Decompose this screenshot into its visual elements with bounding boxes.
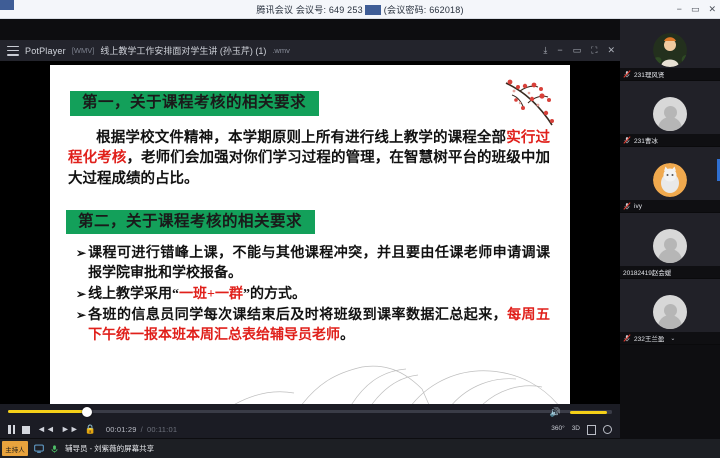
slide-paragraph-1: 根据学校文件精神，本学期原则上所有进行线上教学的课程全部实行过程化考核，老师们会… bbox=[68, 128, 550, 190]
participant-tile[interactable]: 231曹冰 bbox=[620, 81, 720, 147]
avatar bbox=[653, 163, 687, 197]
list-item: ➢ 课程可进行错峰上课，不能与其他课程冲突，并且要由任课老师申请调课报学院审批和… bbox=[76, 244, 550, 284]
bullet-arrow-icon: ➢ bbox=[76, 244, 86, 262]
plum-blossom-icon bbox=[498, 73, 562, 129]
screen-share-status-label: 辅导员 - 刘紫薇的屏幕共享 bbox=[65, 443, 154, 454]
microphone-muted-icon bbox=[623, 334, 631, 342]
microphone-muted-icon bbox=[623, 136, 631, 144]
meeting-maximize-button[interactable]: ▭ bbox=[691, 5, 700, 14]
meeting-window-controls[interactable]: − ▭ ✕ bbox=[677, 0, 716, 19]
bullet-highlight: 一班+一群 bbox=[179, 287, 243, 302]
participant-name-row: 232王兰盈 ⌄ bbox=[620, 332, 720, 344]
bullet-text-part1: 课程可进行错峰上课，不能与其他课程冲突，并且要由任课老师申请调课报学院审批和学校… bbox=[88, 246, 550, 281]
seek-bar[interactable] bbox=[0, 404, 620, 418]
gear-icon[interactable] bbox=[603, 425, 612, 434]
slide-heading-1: 第一，关于课程考核的相关要求 bbox=[70, 91, 319, 116]
previous-button[interactable]: ◄◄ bbox=[37, 425, 55, 434]
bullet-arrow-icon: ➢ bbox=[76, 285, 86, 303]
playlist-icon[interactable] bbox=[587, 425, 596, 435]
meeting-close-button[interactable]: ✕ bbox=[708, 5, 716, 14]
seek-handle[interactable] bbox=[82, 407, 92, 417]
volume-fill bbox=[570, 411, 607, 414]
potplayer-window-controls[interactable]: ⤓ − ▭ ⛶ ✕ bbox=[543, 40, 615, 61]
slide-bullet-list: ➢ 课程可进行错峰上课，不能与其他课程冲突，并且要由任课老师申请调课报学院审批和… bbox=[76, 244, 550, 345]
potplayer-window: PotPlayer [WMV] 线上教学工作安排面对学生讲 (孙玉芹) (1) … bbox=[0, 40, 620, 438]
potplayer-fullscreen-button[interactable]: ⛶ bbox=[591, 46, 597, 55]
participant-name-row: 231理风贤 bbox=[620, 68, 720, 80]
participant-name: 231曹冰 bbox=[634, 135, 658, 145]
potplayer-close-button[interactable]: ✕ bbox=[607, 46, 615, 55]
participant-tile[interactable]: ivy bbox=[620, 147, 720, 213]
bullet-text-part1: 各班的信息员同学每次课结束后及时将班级到课率数据汇总起来， bbox=[88, 308, 507, 323]
windows-taskbar[interactable]: 主持人 辅导员 - 刘紫薇的屏幕共享 bbox=[0, 439, 720, 458]
start-button[interactable]: 主持人 bbox=[2, 441, 28, 456]
participant-tile[interactable]: 232王兰盈 ⌄ bbox=[620, 279, 720, 345]
paragraph-text-part2: ，老师们会加强对你们学习过程的管理，在智慧树平台的班级中加大过程成绩的占比。 bbox=[68, 150, 550, 187]
microphone-icon[interactable] bbox=[49, 443, 60, 454]
control-bar-right-group[interactable]: 360° 3D bbox=[551, 425, 612, 435]
participant-tile[interactable]: 20182419赵会媛 bbox=[620, 213, 720, 279]
volume-track[interactable] bbox=[570, 411, 612, 414]
avatar bbox=[653, 229, 687, 263]
avatar bbox=[653, 295, 687, 329]
meeting-title: 腾讯会议 会议号: 649 253 151 (会议密码: 662018) bbox=[0, 3, 720, 16]
hamburger-icon[interactable] bbox=[7, 46, 19, 56]
participant-name: 232王兰盈 bbox=[634, 333, 664, 343]
meeting-minimize-button[interactable]: − bbox=[677, 5, 682, 14]
seek-track[interactable] bbox=[8, 410, 612, 413]
participant-tile[interactable]: 231理风贤 bbox=[620, 19, 720, 81]
screen-root: 腾讯会议 会议号: 649 253 151 (会议密码: 662018) − ▭… bbox=[0, 0, 720, 458]
potplayer-restore-button[interactable]: ▭ bbox=[573, 46, 582, 55]
potplayer-video-surface[interactable]: 第一，关于课程考核的相关要求 根据学校文件精神，本学期原则上所有进行线上教学的课… bbox=[0, 61, 620, 404]
meeting-titlebar: 腾讯会议 会议号: 649 253 151 (会议密码: 662018) − ▭… bbox=[0, 0, 720, 19]
participant-sidebar[interactable]: 231理风贤 231曹冰 bbox=[620, 19, 720, 439]
participant-name-row: 231曹冰 bbox=[620, 134, 720, 146]
paragraph-text-part1: 根据学校文件精神，本学期原则上所有进行线上教学的课程全部 bbox=[96, 130, 506, 146]
presentation-slide: 第一，关于课程考核的相关要求 根据学校文件精神，本学期原则上所有进行线上教学的课… bbox=[50, 65, 570, 404]
participant-name-row: 20182419赵会媛 bbox=[620, 266, 720, 278]
avatar-body bbox=[658, 315, 682, 329]
seek-progress-fill bbox=[8, 410, 87, 413]
next-button[interactable]: ►► bbox=[61, 425, 79, 434]
meeting-window-chip bbox=[0, 0, 14, 10]
time-separator: / bbox=[141, 425, 143, 434]
bullet-text-part1: 线上教学采用“ bbox=[88, 287, 179, 302]
potplayer-file-name: 线上教学工作安排面对学生讲 (孙玉芹) (1) bbox=[100, 44, 266, 57]
time-total: 00:11:01 bbox=[147, 425, 177, 434]
bullet-text: 线上教学采用“一班+一群”的方式。 bbox=[88, 285, 550, 305]
bullet-text: 课程可进行错峰上课，不能与其他课程冲突，并且要由任课老师申请调课报学院审批和学校… bbox=[88, 244, 550, 284]
stop-button[interactable] bbox=[22, 426, 30, 434]
potplayer-format-tag: [WMV] bbox=[72, 46, 95, 55]
potplayer-control-bar[interactable]: ◄◄ ►► 🔒 00:01:29 / 00:11:01 360° 3D 🔊 bbox=[0, 404, 620, 438]
potplayer-titlebar[interactable]: PotPlayer [WMV] 线上教学工作安排面对学生讲 (孙玉芹) (1) … bbox=[0, 40, 620, 61]
participant-name: ivy bbox=[634, 203, 642, 210]
pin-on-top-icon[interactable]: ⤓ bbox=[543, 46, 547, 55]
avatar bbox=[653, 97, 687, 131]
participant-name: 231理风贤 bbox=[634, 69, 664, 79]
monitor-icon[interactable] bbox=[33, 443, 44, 454]
microphone-muted-icon bbox=[623, 70, 631, 78]
bullet-arrow-icon: ➢ bbox=[76, 306, 86, 324]
list-item: ➢ 线上教学采用“一班+一群”的方式。 bbox=[76, 285, 550, 305]
potplayer-file-extension: .wmv bbox=[272, 46, 290, 55]
slide-heading-2: 第二，关于课程考核的相关要求 bbox=[66, 210, 315, 235]
bullet-text-part2: ”的方式。 bbox=[243, 287, 306, 302]
potplayer-minimize-button[interactable]: − bbox=[557, 46, 562, 55]
mountain-illustration bbox=[50, 337, 570, 404]
button-3d[interactable]: 3D bbox=[572, 426, 580, 433]
pause-button[interactable] bbox=[8, 425, 15, 434]
chevron-down-icon[interactable]: ⌄ bbox=[670, 335, 675, 342]
avatar-body bbox=[658, 249, 682, 263]
avatar bbox=[653, 33, 687, 67]
participant-name-row: ivy bbox=[620, 200, 720, 212]
speaker-icon[interactable]: 🔊 bbox=[550, 408, 561, 417]
microphone-muted-icon bbox=[623, 202, 631, 210]
playback-controls-row[interactable]: ◄◄ ►► 🔒 00:01:29 / 00:11:01 360° 3D bbox=[0, 421, 620, 438]
button-360[interactable]: 360° bbox=[551, 426, 564, 433]
avatar-body bbox=[658, 117, 682, 131]
volume-control[interactable]: 🔊 bbox=[550, 408, 612, 417]
potplayer-brand-label: PotPlayer bbox=[25, 46, 66, 56]
lock-icon[interactable]: 🔒 bbox=[85, 425, 96, 434]
time-current: 00:01:29 bbox=[106, 425, 137, 434]
participant-name: 20182419赵会媛 bbox=[623, 267, 671, 277]
